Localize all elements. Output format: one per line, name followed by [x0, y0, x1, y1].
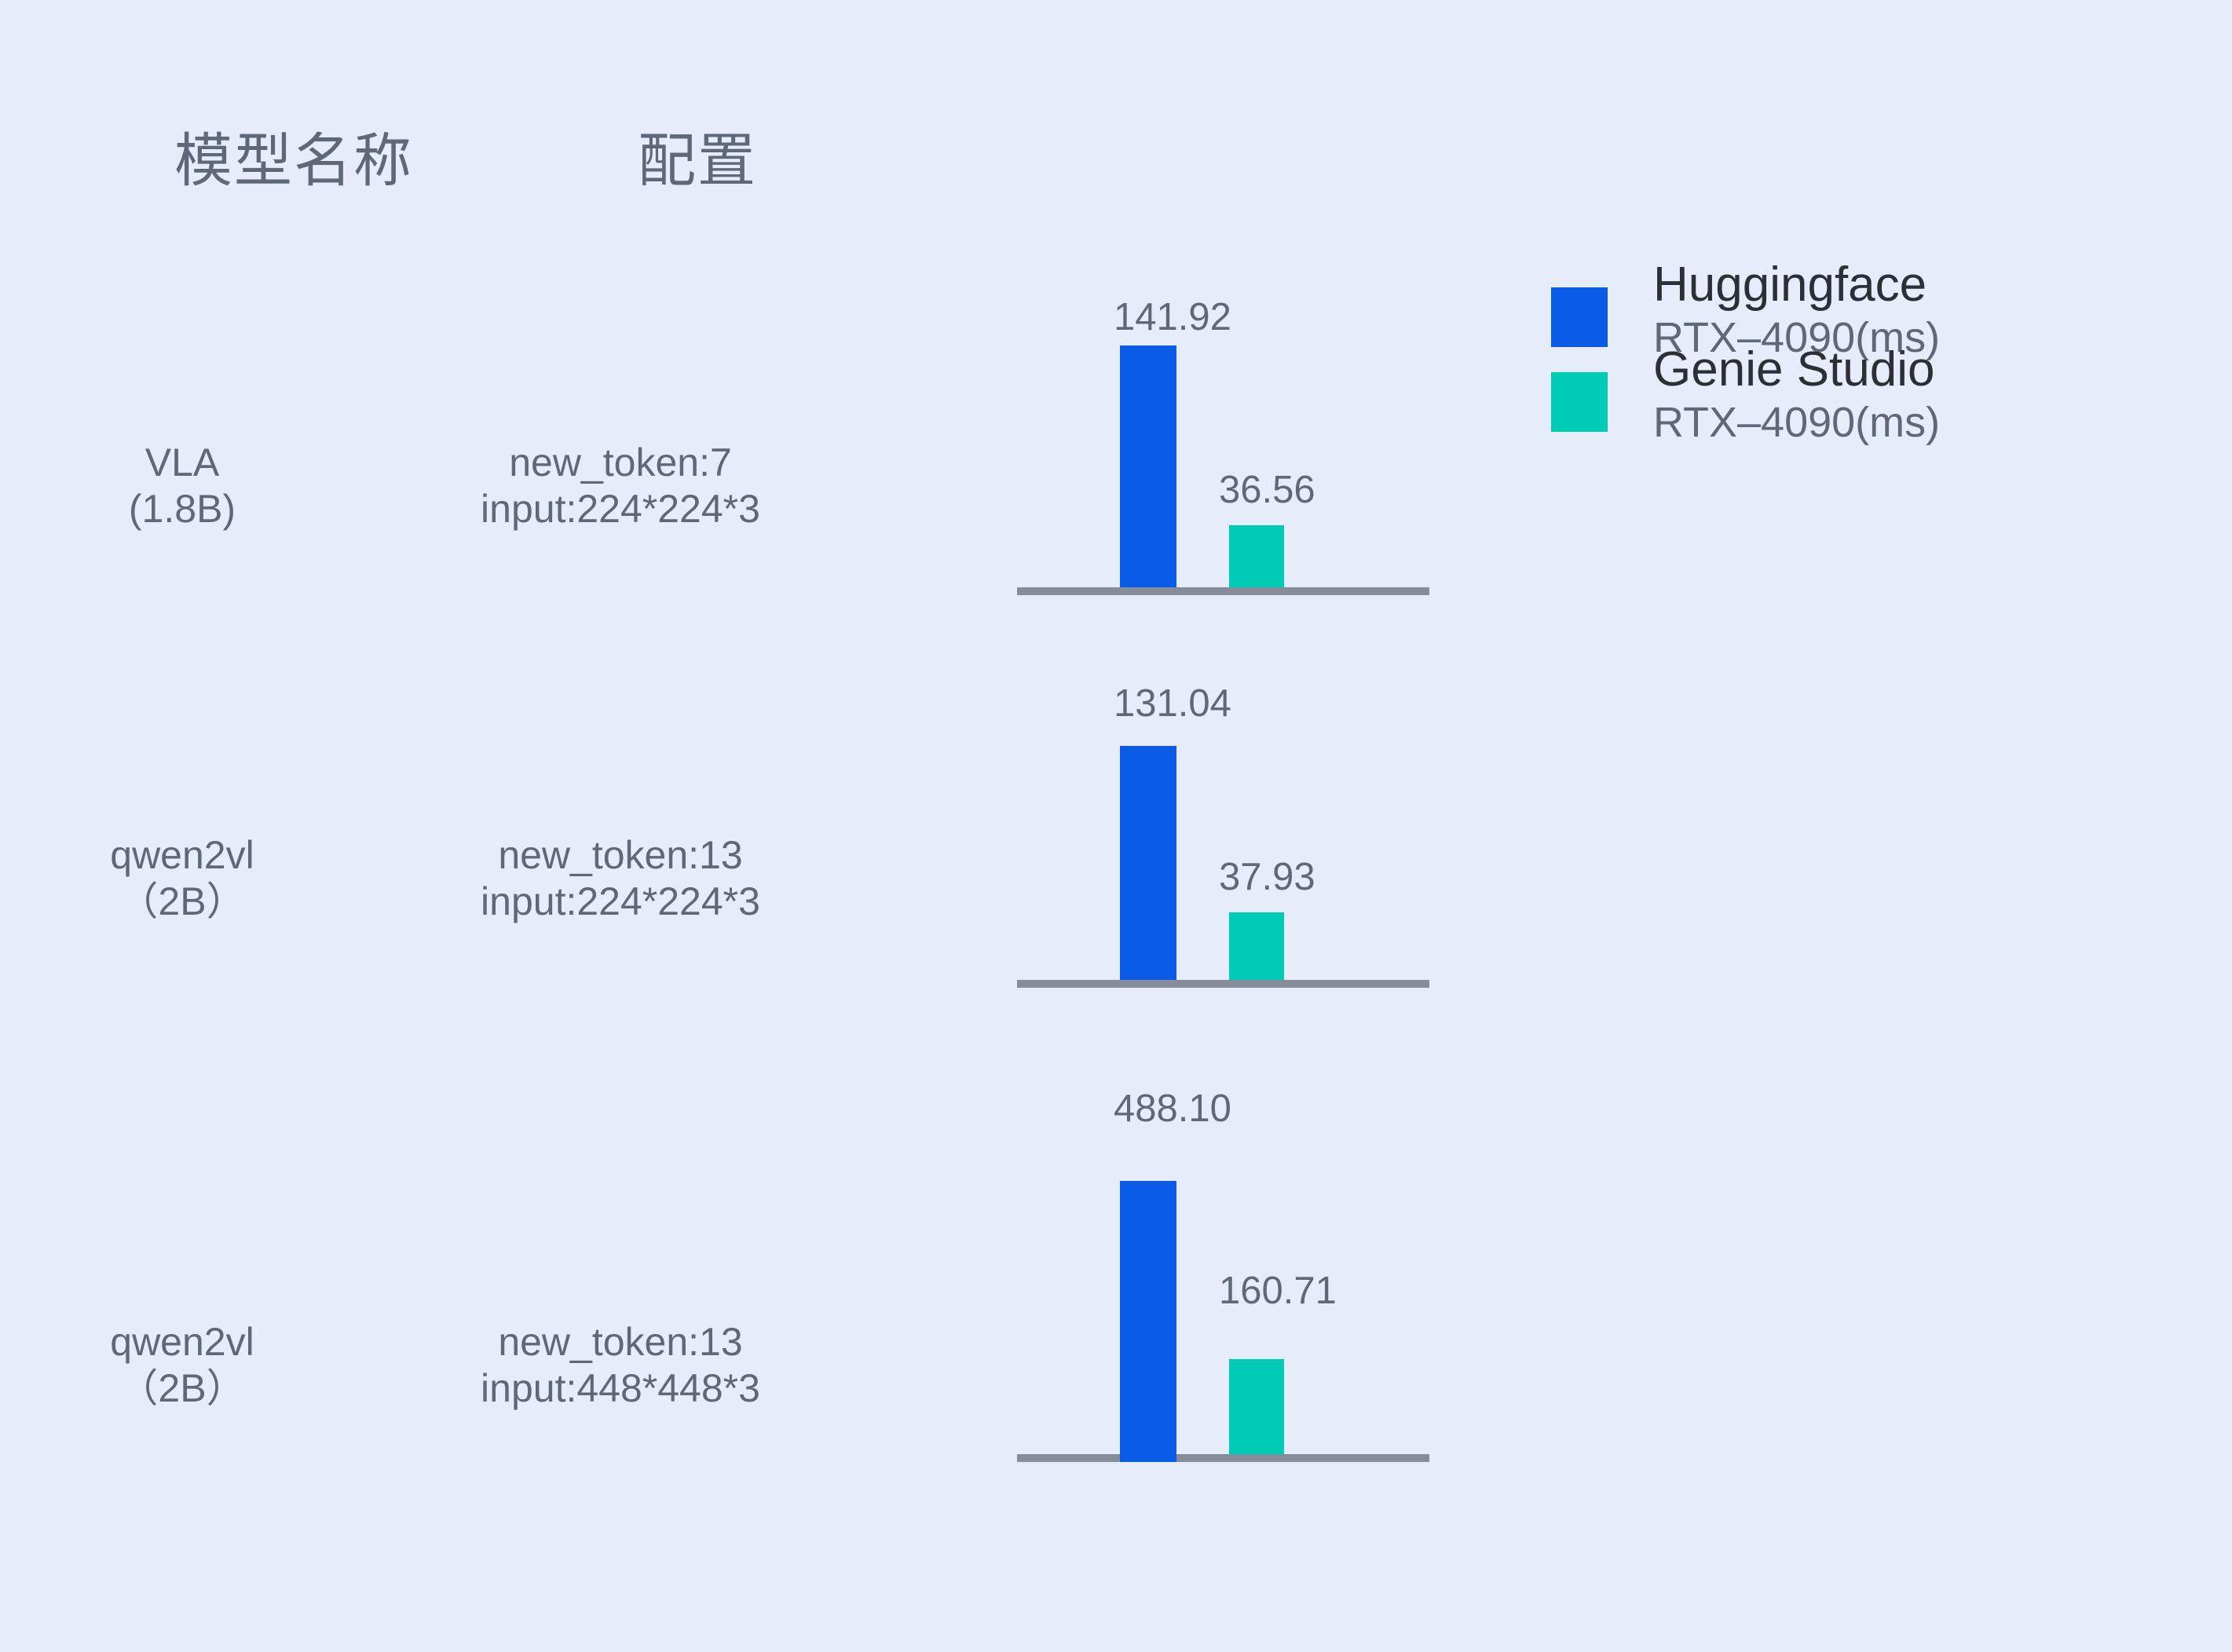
row-config-label: new_token:13 input:448*448*3 — [346, 1319, 895, 1412]
bar-value-huggingface: 488.10 — [1114, 1090, 1231, 1128]
chart-legend: Huggingface RTX–4090(ms) Genie Studio RT… — [1551, 259, 2054, 344]
bar-genie-studio — [1229, 1359, 1284, 1454]
row-model-label: VLA (1.8B) — [17, 440, 347, 532]
row-model-name: qwen2vl — [110, 1320, 254, 1364]
bar-huggingface — [1120, 345, 1176, 587]
plot-baseline — [1017, 1454, 1429, 1462]
row-model-name: qwen2vl — [110, 833, 254, 877]
row-config-tokens: new_token:7 — [509, 440, 732, 484]
legend-series-name: Huggingface — [1653, 259, 2062, 312]
bar-genie-studio — [1229, 912, 1284, 980]
row-model-size: （2B） — [17, 1365, 347, 1412]
legend-swatch-icon — [1551, 287, 1608, 347]
plot-baseline — [1017, 587, 1429, 595]
bar-huggingface — [1120, 1181, 1176, 1462]
row-config-tokens: new_token:13 — [498, 833, 742, 877]
chart-row: qwen2vl （2B） new_token:13 input:448*448*… — [0, 1123, 2232, 1484]
legend-swatch-icon — [1551, 372, 1608, 432]
row-model-name: VLA — [145, 440, 220, 484]
row-config-input: input:448*448*3 — [346, 1365, 895, 1412]
bar-genie-studio — [1229, 525, 1284, 587]
row-config-label: new_token:13 input:224*224*3 — [346, 832, 895, 925]
row-config-label: new_token:7 input:224*224*3 — [346, 440, 895, 532]
row-model-size: (1.8B) — [17, 486, 347, 532]
row-model-label: qwen2vl （2B） — [17, 1319, 347, 1412]
bar-value-genie-studio: 160.71 — [1219, 1272, 1337, 1310]
bar-value-genie-studio: 36.56 — [1219, 471, 1315, 510]
row-model-size: （2B） — [17, 879, 347, 925]
row-model-label: qwen2vl （2B） — [17, 832, 347, 925]
bar-value-huggingface: 141.92 — [1114, 298, 1231, 337]
chart-row: qwen2vl （2B） new_token:13 input:224*224*… — [0, 730, 2232, 1013]
row-config-input: input:224*224*3 — [346, 486, 895, 532]
row-config-tokens: new_token:13 — [498, 1320, 742, 1364]
bar-value-huggingface: 131.04 — [1114, 685, 1231, 723]
legend-series-name: Genie Studio — [1653, 344, 2062, 397]
legend-series-unit: RTX–4090(ms) — [1653, 397, 2062, 450]
row-plot: 488.10 160.71 — [1013, 1123, 1437, 1468]
bar-huggingface — [1120, 746, 1176, 980]
chart-canvas: 模型名称 配置 VLA (1.8B) new_token:7 input:224… — [0, 0, 2232, 1652]
column-header-config: 配置 — [638, 132, 757, 190]
legend-text-block: Genie Studio RTX–4090(ms) — [1653, 344, 2062, 449]
bar-value-genie-studio: 37.93 — [1219, 858, 1315, 897]
row-plot: 141.92 36.56 — [1013, 338, 1437, 597]
column-header-model-name: 模型名称 — [174, 132, 413, 190]
row-config-input: input:224*224*3 — [346, 879, 895, 925]
plot-baseline — [1017, 980, 1429, 988]
row-plot: 131.04 37.93 — [1013, 730, 1437, 989]
